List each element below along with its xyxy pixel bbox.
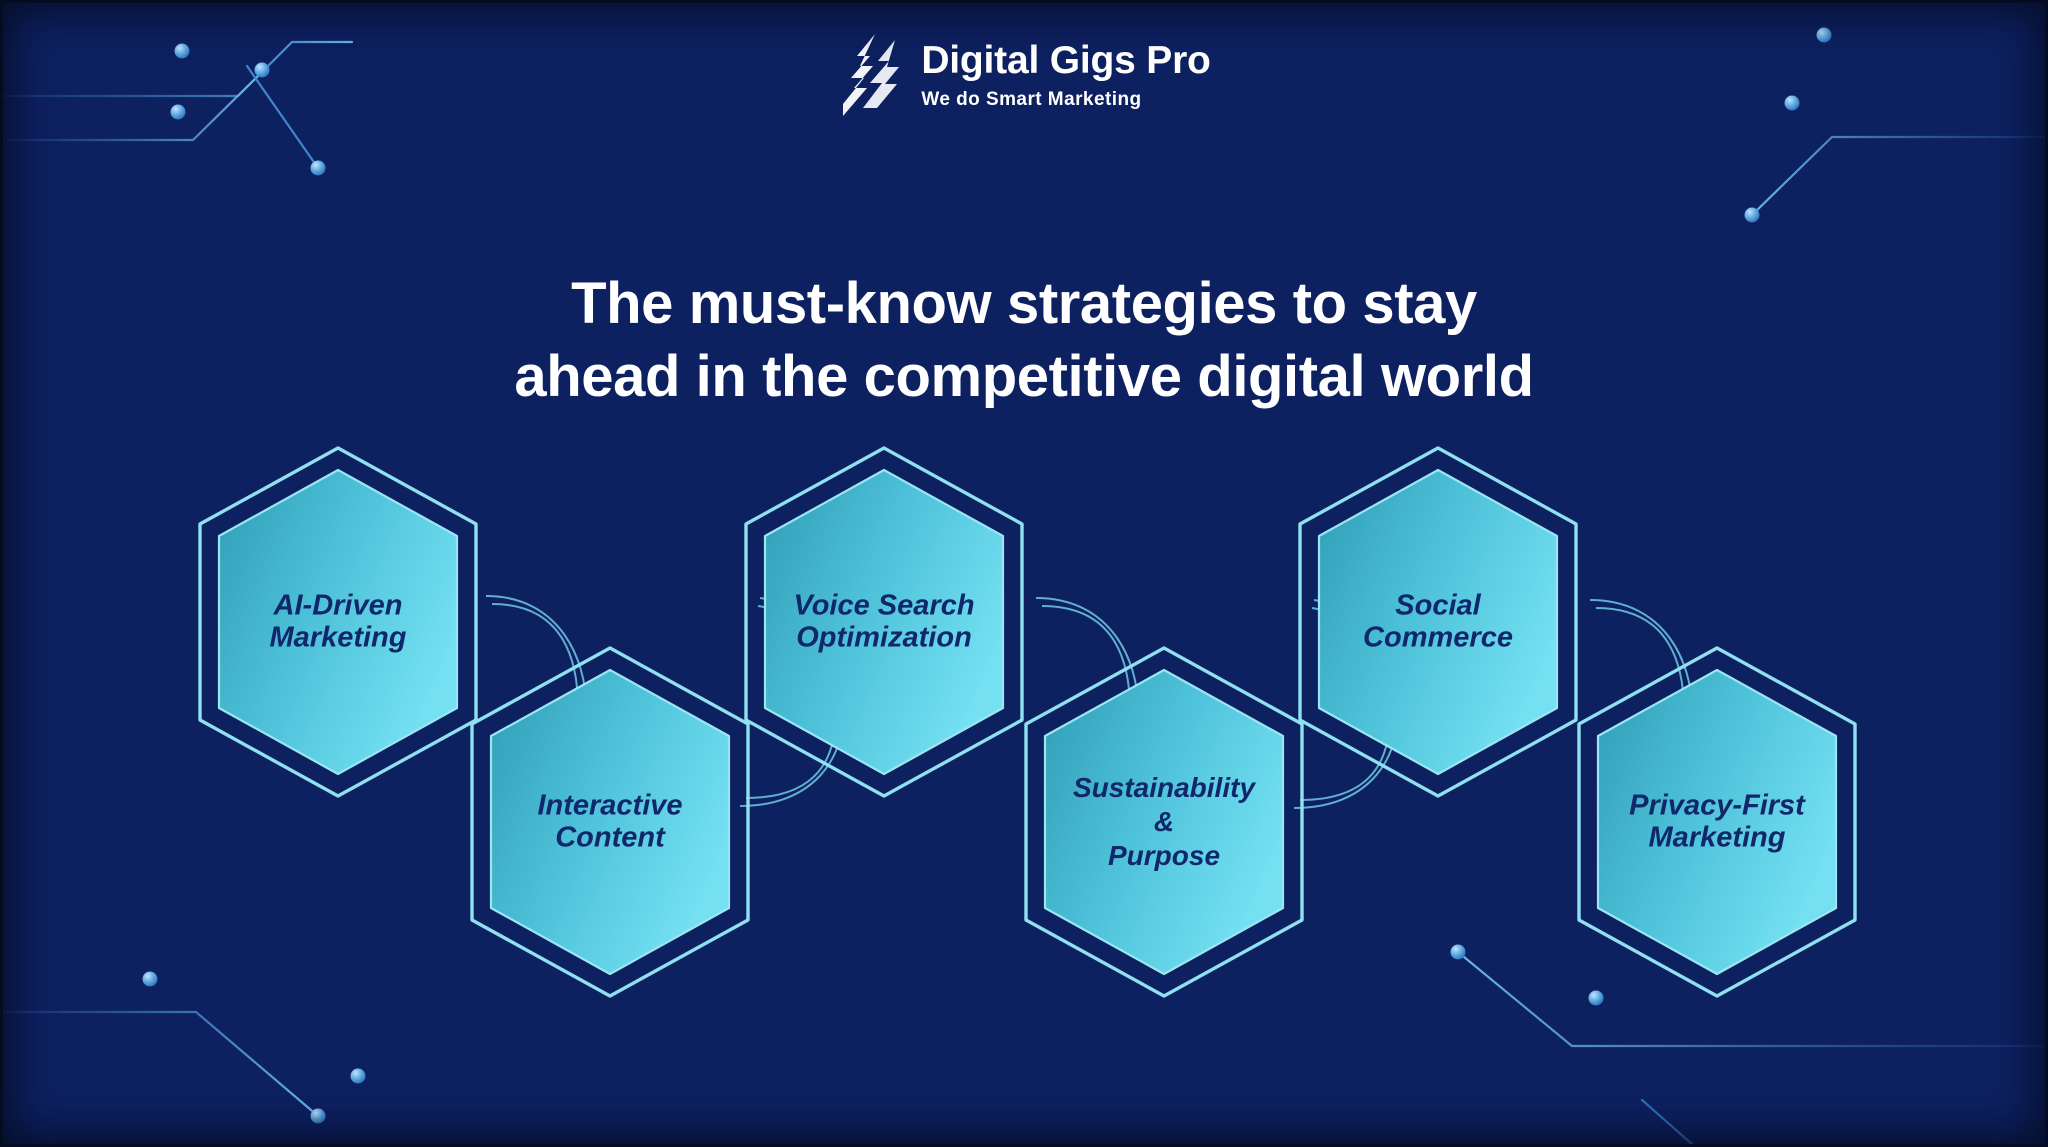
lightning-bolt-logo-icon (837, 34, 899, 116)
hexagon-node-4 (1026, 648, 1302, 996)
brand-tagline: We do Smart Marketing (921, 90, 1141, 109)
hexagon-node-3 (746, 448, 1022, 796)
hexagon-node-6 (1579, 648, 1855, 996)
hexagon-node-2 (472, 648, 748, 996)
brand-header: Digital Gigs Pro We do Smart Marketing (0, 34, 2048, 116)
slide-canvas: Digital Gigs Pro We do Smart Marketing T… (0, 0, 2048, 1147)
headline-line-2: ahead in the competitive digital world (0, 340, 2048, 413)
hexagon-node-1 (200, 448, 476, 796)
headline-line-1: The must-know strategies to stay (0, 267, 2048, 340)
page-title: The must-know strategies to stay ahead i… (0, 267, 2048, 413)
hexagon-node-5 (1300, 448, 1576, 796)
brand-name: Digital Gigs Pro (921, 41, 1210, 80)
hexagon-chain-diagram (0, 0, 2048, 1147)
